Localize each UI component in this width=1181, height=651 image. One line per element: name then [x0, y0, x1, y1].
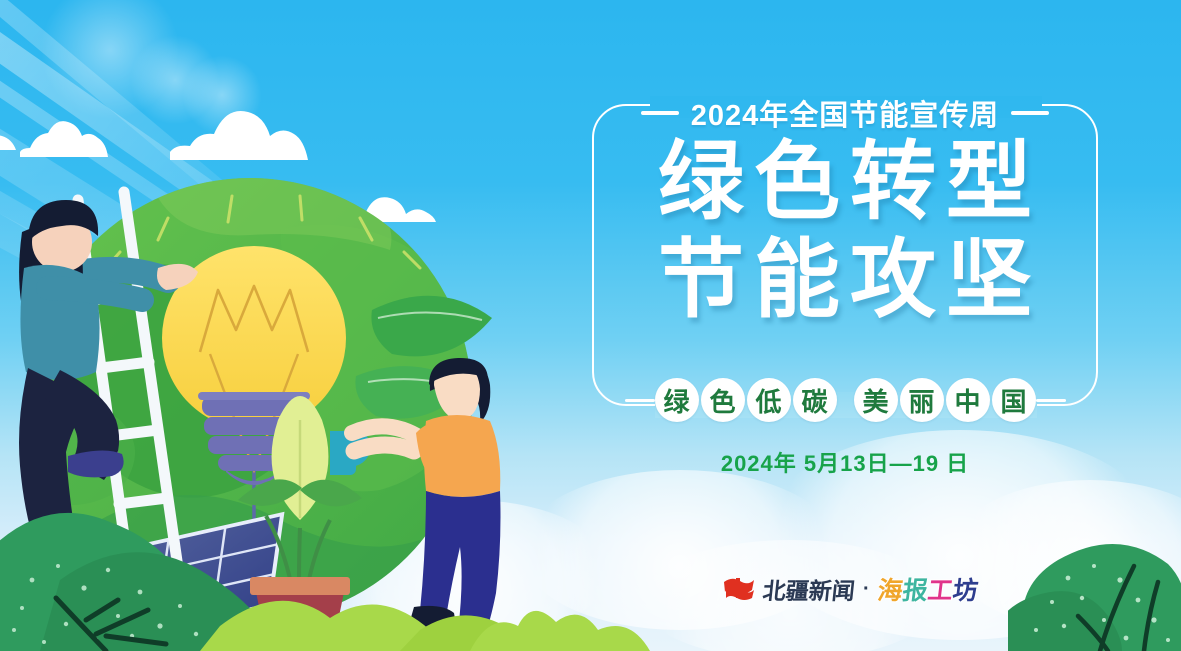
- branch-icon: [56, 598, 166, 651]
- ladder-icon: [78, 192, 178, 580]
- soft-cloud-icon: [330, 500, 610, 640]
- logo-brand-text: 北疆新闻: [761, 572, 857, 606]
- subtitle-char: 碳: [793, 378, 837, 422]
- branch-icon: [1078, 566, 1158, 651]
- sun-flare-icon: [130, 35, 220, 125]
- header-right-dash: [1011, 111, 1049, 115]
- logo-studio-char: 报: [901, 578, 929, 605]
- solar-panel-icon: [38, 514, 282, 651]
- eco-illustration: [0, 0, 640, 651]
- title-line-1: 绿色转型: [602, 133, 1098, 231]
- sparkle-lines-icon: [104, 196, 420, 270]
- subtitle-char: 绿: [655, 378, 699, 422]
- poster-canvas: 2024年全国节能宣传周 绿色转型 节能攻坚 绿 色 低 碳 美 丽 中 国 2…: [0, 0, 1181, 651]
- woman-on-ladder-illustration: [19, 200, 198, 560]
- sun-ray-icon: [0, 20, 424, 378]
- sun-ray-icon: [0, 150, 498, 505]
- subtitle-char: 中: [946, 378, 990, 422]
- bottom-center-foliage: [470, 596, 690, 651]
- man-with-watering-can-illustration: [330, 355, 560, 651]
- speckles: [12, 564, 198, 644]
- publisher-logo: 北疆新闻 · 海报工坊: [722, 571, 978, 607]
- subtitle-left-dash: [625, 399, 655, 402]
- subtitle-char: 丽: [900, 378, 944, 422]
- header-left-dash: [641, 111, 679, 115]
- sun-flare-icon: [182, 55, 262, 135]
- header-row: 2024年全国节能宣传周: [592, 92, 1098, 134]
- subtitle-char: 低: [747, 378, 791, 422]
- green-earth-globe: [20, 166, 476, 640]
- subtitle-group-b: 美 丽 中 国: [854, 378, 1036, 422]
- sun-ray-icon: [0, 0, 312, 269]
- bulb-wire: [186, 460, 254, 600]
- watering-can-icon: [330, 430, 370, 475]
- header-title: 2024年全国节能宣传周: [691, 92, 1000, 134]
- subtitle-char: 色: [701, 378, 745, 422]
- subtitle-group-a: 绿 色 低 碳: [655, 378, 837, 422]
- subtitle-char: 国: [992, 378, 1036, 422]
- title-line-2: 节能攻坚: [602, 231, 1098, 329]
- cloud-icon: [20, 112, 135, 157]
- potted-plant-icon: [238, 396, 362, 651]
- sun-ray-icon: [0, 110, 501, 497]
- flag-icon: [722, 576, 756, 602]
- cloud-icon: [348, 180, 478, 222]
- event-date: 2024年 5月13日—19 日: [592, 446, 1098, 478]
- sun-ray-icon: [0, 0, 366, 310]
- speckles: [1034, 564, 1170, 642]
- sun-ray-icon: [0, 60, 484, 465]
- subtitle-right-dash: [1036, 399, 1066, 402]
- logo-separator: ·: [862, 578, 871, 601]
- light-bulb-icon: [162, 246, 346, 485]
- logo-studio-text: 海报工坊: [875, 571, 979, 607]
- right-bushes: [1008, 520, 1181, 651]
- logo-studio-char: 工: [926, 578, 954, 605]
- sun-flare-icon: [40, 0, 180, 120]
- logo-studio-char: 海: [876, 578, 904, 605]
- logo-studio-char: 坊: [951, 578, 979, 605]
- leaf-cluster-icon: [355, 296, 492, 419]
- foreground-foliage: [0, 430, 640, 651]
- main-title-block: 绿色转型 节能攻坚: [592, 133, 1098, 329]
- subtitle-char: 美: [854, 378, 898, 422]
- soft-cloud-icon: [950, 480, 1181, 630]
- cloud-icon: [170, 100, 360, 160]
- subtitle-row: 绿 色 低 碳 美 丽 中 国: [592, 378, 1098, 422]
- cloud-icon: [0, 120, 40, 150]
